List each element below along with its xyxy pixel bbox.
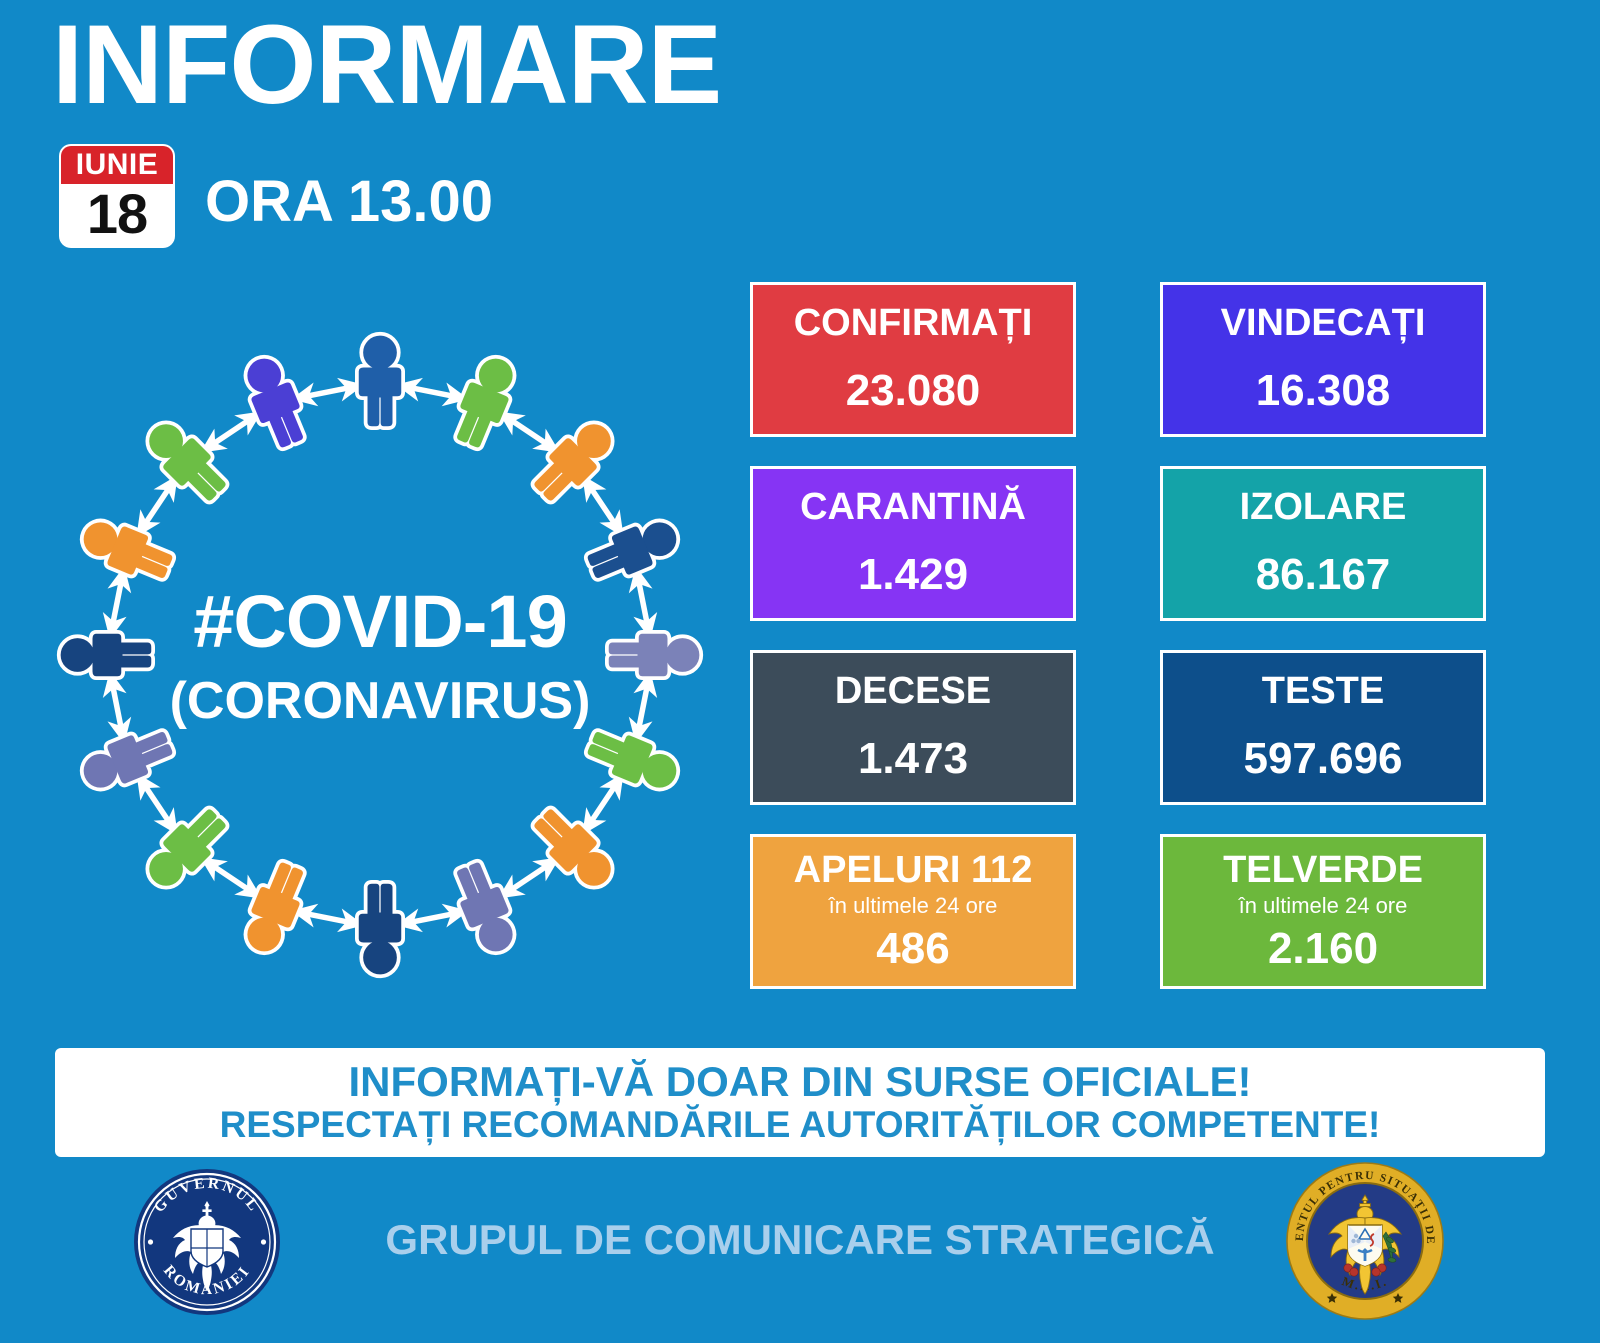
distance-arrow	[585, 480, 620, 533]
distance-arrow	[205, 860, 258, 895]
person-figure	[238, 352, 312, 452]
distance-arrow	[297, 386, 359, 398]
stat-value: 486	[876, 926, 949, 972]
stat-note: în ultimele 24 ore	[829, 893, 998, 918]
person-figure	[448, 352, 522, 452]
person-figure	[583, 513, 683, 587]
stat-label: TESTE	[1262, 672, 1384, 712]
stat-value: 16.308	[1256, 368, 1391, 414]
banner-line-1: INFORMAȚI-VĂ DOAR DIN SURSE OFICIALE!	[349, 1059, 1252, 1104]
stat-label: APELURI 112	[794, 851, 1033, 891]
stat-label: CARANTINĂ	[800, 488, 1026, 528]
distance-arrow	[401, 386, 463, 398]
distance-arrow	[205, 414, 258, 449]
person-figure	[448, 858, 522, 958]
date-badge: IUNIE 18	[61, 146, 173, 246]
banner-line-2: RESPECTAȚI RECOMANDĂRILE AUTORITĂȚILOR C…	[220, 1104, 1381, 1145]
stat-value: 2.160	[1268, 926, 1378, 972]
stat-label: IZOLARE	[1240, 488, 1407, 528]
distance-arrow	[297, 912, 359, 924]
distance-arrow	[401, 912, 463, 924]
coronavirus-label: (CORONAVIRUS)	[55, 675, 705, 727]
stat-label: DECESE	[835, 672, 991, 712]
report-time: ORA 13.00	[205, 168, 493, 235]
person-figure	[359, 884, 402, 975]
distance-arrow	[503, 414, 556, 449]
stat-card-vindeca-i: VINDECAȚI16.308	[1160, 282, 1486, 437]
page-title: INFORMARE	[52, 2, 721, 127]
stat-label: CONFIRMAȚI	[794, 304, 1033, 344]
stat-label: TELVERDE	[1223, 851, 1423, 891]
stat-value: 597.696	[1243, 736, 1402, 782]
person-figure	[527, 802, 621, 896]
statistics-grid: CONFIRMAȚI23.080VINDECAȚI16.308CARANTINĂ…	[750, 282, 1486, 992]
stat-label: VINDECAȚI	[1221, 304, 1426, 344]
calendar-month-label: IUNIE	[61, 146, 173, 184]
person-figure	[77, 513, 177, 587]
distance-arrow	[503, 860, 556, 895]
stat-value: 1.429	[858, 552, 968, 598]
stat-card-apeluri-112: APELURI 112în ultimele 24 ore486	[750, 834, 1076, 989]
stat-card-carantin: CARANTINĂ1.429	[750, 466, 1076, 621]
dsu-seal: DEPARTAMENTUL PENTRU SITUAȚII DE URGENȚĂ…	[1286, 1162, 1444, 1320]
stat-value: 1.473	[858, 736, 968, 782]
stat-card-teste: TESTE597.696	[1160, 650, 1486, 805]
person-figure	[583, 723, 683, 797]
person-figure	[527, 414, 621, 508]
stat-card-telverde: TELVERDEîn ultimele 24 ore2.160	[1160, 834, 1486, 989]
distance-arrow	[139, 480, 174, 533]
distance-arrow	[139, 778, 174, 831]
stat-value: 23.080	[846, 368, 981, 414]
stat-value: 86.167	[1256, 552, 1391, 598]
person-figure	[139, 414, 233, 508]
person-figure	[77, 723, 177, 797]
distance-arrow	[585, 778, 620, 831]
stat-note: în ultimele 24 ore	[1239, 893, 1408, 918]
covid-hashtag-label: #COVID-19	[55, 585, 705, 659]
person-figure	[139, 802, 233, 896]
stat-card-izolare: IZOLARE86.167	[1160, 466, 1486, 621]
covid-distancing-graphic: #COVID-19 (CORONAVIRUS)	[55, 330, 705, 980]
calendar-day-label: 18	[61, 184, 173, 246]
person-figure	[359, 336, 402, 427]
stat-card-confirma-i: CONFIRMAȚI23.080	[750, 282, 1076, 437]
dsu-seal-svg: DEPARTAMENTUL PENTRU SITUAȚII DE URGENȚĂ…	[1286, 1162, 1444, 1320]
stat-card-decese: DECESE1.473	[750, 650, 1076, 805]
official-sources-banner: INFORMAȚI-VĂ DOAR DIN SURSE OFICIALE! RE…	[55, 1048, 1545, 1157]
person-figure	[238, 858, 312, 958]
